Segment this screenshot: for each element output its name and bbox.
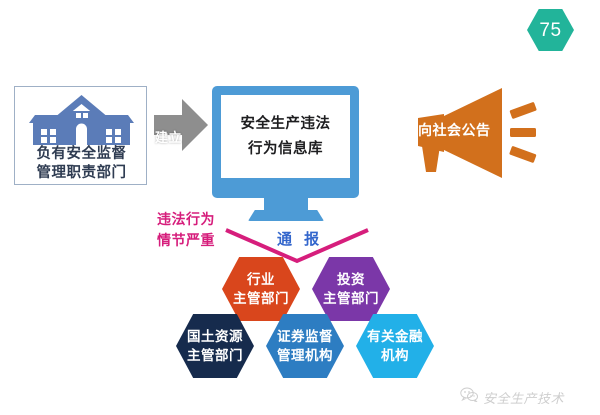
hexagon-land-resources-line1: 国土资源 [187, 327, 243, 346]
hexagon-land-resources: 国土资源 主管部门 [176, 314, 254, 378]
department-label-line2: 管理职责部门 [15, 164, 148, 183]
department-label: 负有安全监督 管理职责部门 [15, 145, 148, 183]
wechat-icon [460, 387, 478, 407]
monitor-screen-line1: 安全生产违法 [241, 112, 331, 137]
hexagon-industry-line1: 行业 [247, 270, 275, 289]
hexagon-land-resources-line2: 主管部门 [187, 346, 243, 365]
monitor-base [248, 210, 324, 221]
hexagon-securities: 证券监督 管理机构 [266, 314, 344, 378]
hexagon-investment-line2: 主管部门 [323, 289, 379, 308]
violation-note: 违法行为 情节严重 [157, 209, 215, 251]
hexagon-securities-line1: 证券监督 [277, 327, 333, 346]
hexagon-industry: 行业 主管部门 [222, 257, 300, 321]
diagram-canvas: 75 [0, 0, 600, 415]
monitor-screen-line2: 行为信息库 [248, 137, 323, 162]
megaphone-label: 向社会公告 [418, 120, 491, 140]
hexagon-finance-line2: 机构 [381, 346, 409, 365]
violation-note-line2: 情节严重 [157, 230, 215, 251]
page-number-label: 75 [539, 21, 561, 40]
hexagon-investment-line1: 投资 [337, 270, 365, 289]
establish-arrow-label: 建立 [155, 127, 182, 146]
department-box: 负有安全监督 管理职责部门 [14, 86, 147, 185]
watermark: 安全生产技术 [460, 387, 564, 407]
hexagon-securities-line2: 管理机构 [277, 346, 333, 365]
watermark-text: 安全生产技术 [483, 388, 564, 407]
monitor-screen: 安全生产违法 行为信息库 [221, 95, 350, 178]
page-number-badge: 75 [527, 9, 574, 51]
hexagon-finance: 有关金融 机构 [356, 314, 434, 378]
violation-note-line1: 违法行为 [157, 211, 215, 227]
monitor-icon: 安全生产违法 行为信息库 [212, 86, 359, 198]
department-label-line1: 负有安全监督 [37, 146, 127, 162]
hexagon-industry-line2: 主管部门 [233, 289, 289, 308]
house-icon [15, 91, 148, 149]
hexagon-investment: 投资 主管部门 [312, 257, 390, 321]
monitor-neck [264, 198, 308, 210]
hexagon-finance-line1: 有关金融 [367, 327, 423, 346]
